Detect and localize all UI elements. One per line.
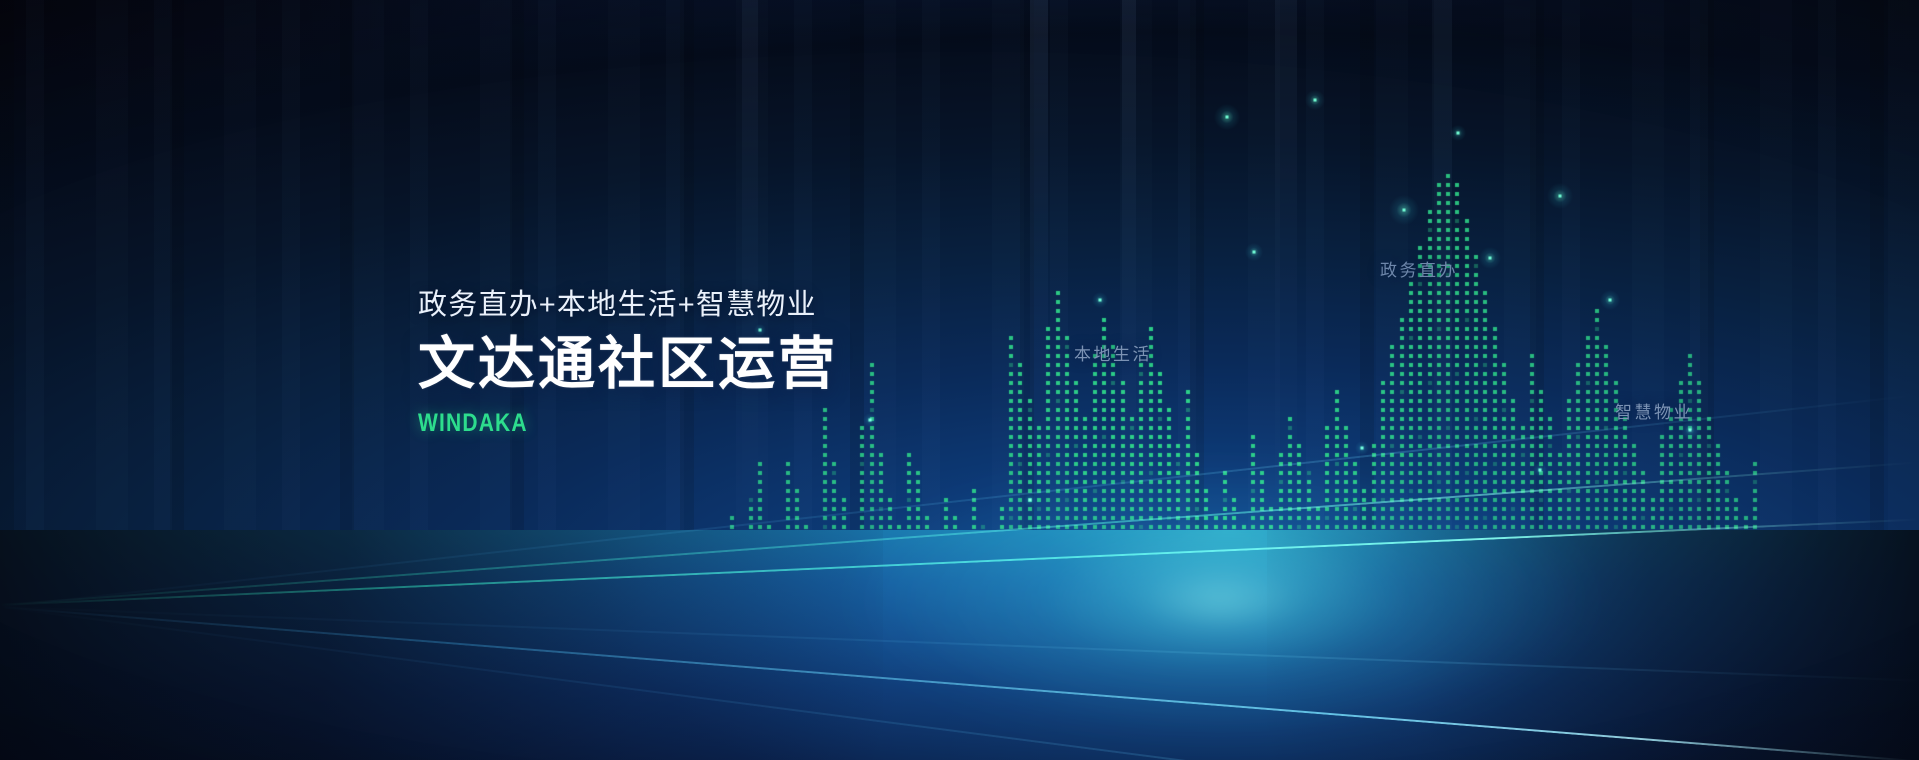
brand-wordmark: WINDAKA [418, 409, 1056, 438]
banner-subtitle: 政务直办+本地生活+智慧物业 [418, 288, 1178, 323]
banner-headline: 文达通社区运营 [418, 333, 1178, 397]
floating-label-3: 智慧物业 [1615, 398, 1693, 423]
banner-canvas: 本地生活政务直办智慧物业 政务直办+本地生活+智慧物业 文达通社区运营 WIND… [0, 0, 1919, 760]
floating-label-2: 政务直办 [1380, 256, 1458, 281]
headline-block: 政务直办+本地生活+智慧物业 文达通社区运营 WINDAKA [418, 288, 1178, 438]
